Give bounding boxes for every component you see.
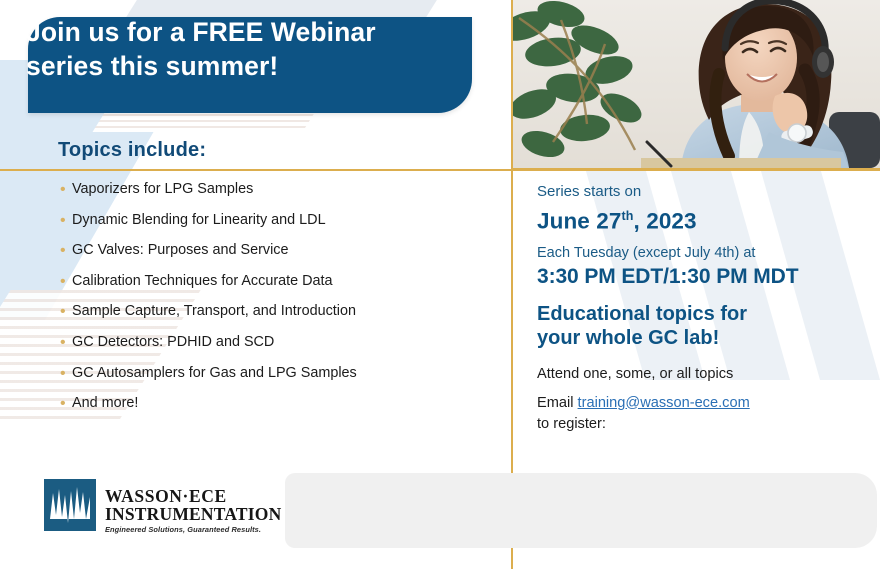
list-item: • GC Valves: Purposes and Service <box>60 241 510 260</box>
cadence-label: Each Tuesday (except July 4th) at <box>537 243 872 263</box>
logo-tagline: Engineered Solutions, Guaranteed Results… <box>105 525 281 535</box>
bullet-icon: • <box>60 272 72 291</box>
photo-left-gold-rule <box>511 0 513 170</box>
list-item-label: And more! <box>72 394 138 413</box>
start-date-monthday: June 27 <box>537 209 622 234</box>
headline-text: Join us for a FREE Webinar series this s… <box>26 15 376 84</box>
list-item-label: Vaporizers for LPG Samples <box>72 180 253 199</box>
series-starts-label: Series starts on <box>537 182 872 202</box>
logo-wordmark: WASSON·ECE INSTRUMENTATION Engineered So… <box>105 479 281 535</box>
list-item: • And more! <box>60 394 510 413</box>
list-item-label: GC Valves: Purposes and Service <box>72 241 289 260</box>
start-date: June 27th, 2023 <box>537 203 872 235</box>
topics-heading: Topics include: <box>58 139 206 162</box>
list-item: • GC Autosamplers for Gas and LPG Sample… <box>60 364 510 383</box>
email-suffix: to register: <box>537 416 606 432</box>
attend-note: Attend one, some, or all topics <box>537 364 872 385</box>
bullet-icon: • <box>60 394 72 413</box>
list-item: • GC Detectors: PDHID and SCD <box>60 333 510 352</box>
list-item: • Sample Capture, Transport, and Introdu… <box>60 302 510 321</box>
bottom-gray-band <box>285 473 877 548</box>
list-item: • Vaporizers for LPG Samples <box>60 180 510 199</box>
bullet-icon: • <box>60 180 72 199</box>
list-item: • Calibration Techniques for Accurate Da… <box>60 272 510 291</box>
webinar-promo-slide: Join us for a FREE Webinar series this s… <box>0 0 880 569</box>
topics-list: • Vaporizers for LPG Samples • Dynamic B… <box>60 180 510 425</box>
photo-bottom-gold-rule <box>511 168 880 170</box>
educational-headline: Educational topics for your whole GC lab… <box>537 302 872 350</box>
bullet-icon: • <box>60 333 72 352</box>
logo-line-2: INSTRUMENTATION <box>105 505 281 524</box>
logo-line-1: WASSON·ECE <box>105 487 281 505</box>
session-time: 3:30 PM EDT/1:30 PM MDT <box>537 264 872 290</box>
email-prefix: Email <box>537 395 578 411</box>
list-item-label: Dynamic Blending for Linearity and LDL <box>72 211 326 230</box>
chromatogram-peaks-icon <box>44 479 96 531</box>
list-item-label: GC Detectors: PDHID and SCD <box>72 333 274 352</box>
company-logo: WASSON·ECE INSTRUMENTATION Engineered So… <box>44 479 281 535</box>
list-item-label: GC Autosamplers for Gas and LPG Samples <box>72 364 357 383</box>
email-instruction: Email training@wasson-ece.comto register… <box>537 393 872 435</box>
list-item-label: Sample Capture, Transport, and Introduct… <box>72 302 356 321</box>
start-date-year: , 2023 <box>634 209 697 234</box>
details-column: Series starts on June 27th, 2023 Each Tu… <box>537 182 872 435</box>
webinar-hero-photo <box>513 0 880 168</box>
list-item: • Dynamic Blending for Linearity and LDL <box>60 211 510 230</box>
bullet-icon: • <box>60 364 72 383</box>
bullet-icon: • <box>60 211 72 230</box>
list-item-label: Calibration Techniques for Accurate Data <box>72 272 333 291</box>
bullet-icon: • <box>60 302 72 321</box>
email-link[interactable]: training@wasson-ece.com <box>578 395 750 411</box>
bullet-icon: • <box>60 241 72 260</box>
start-date-ordinal: th <box>622 209 634 223</box>
